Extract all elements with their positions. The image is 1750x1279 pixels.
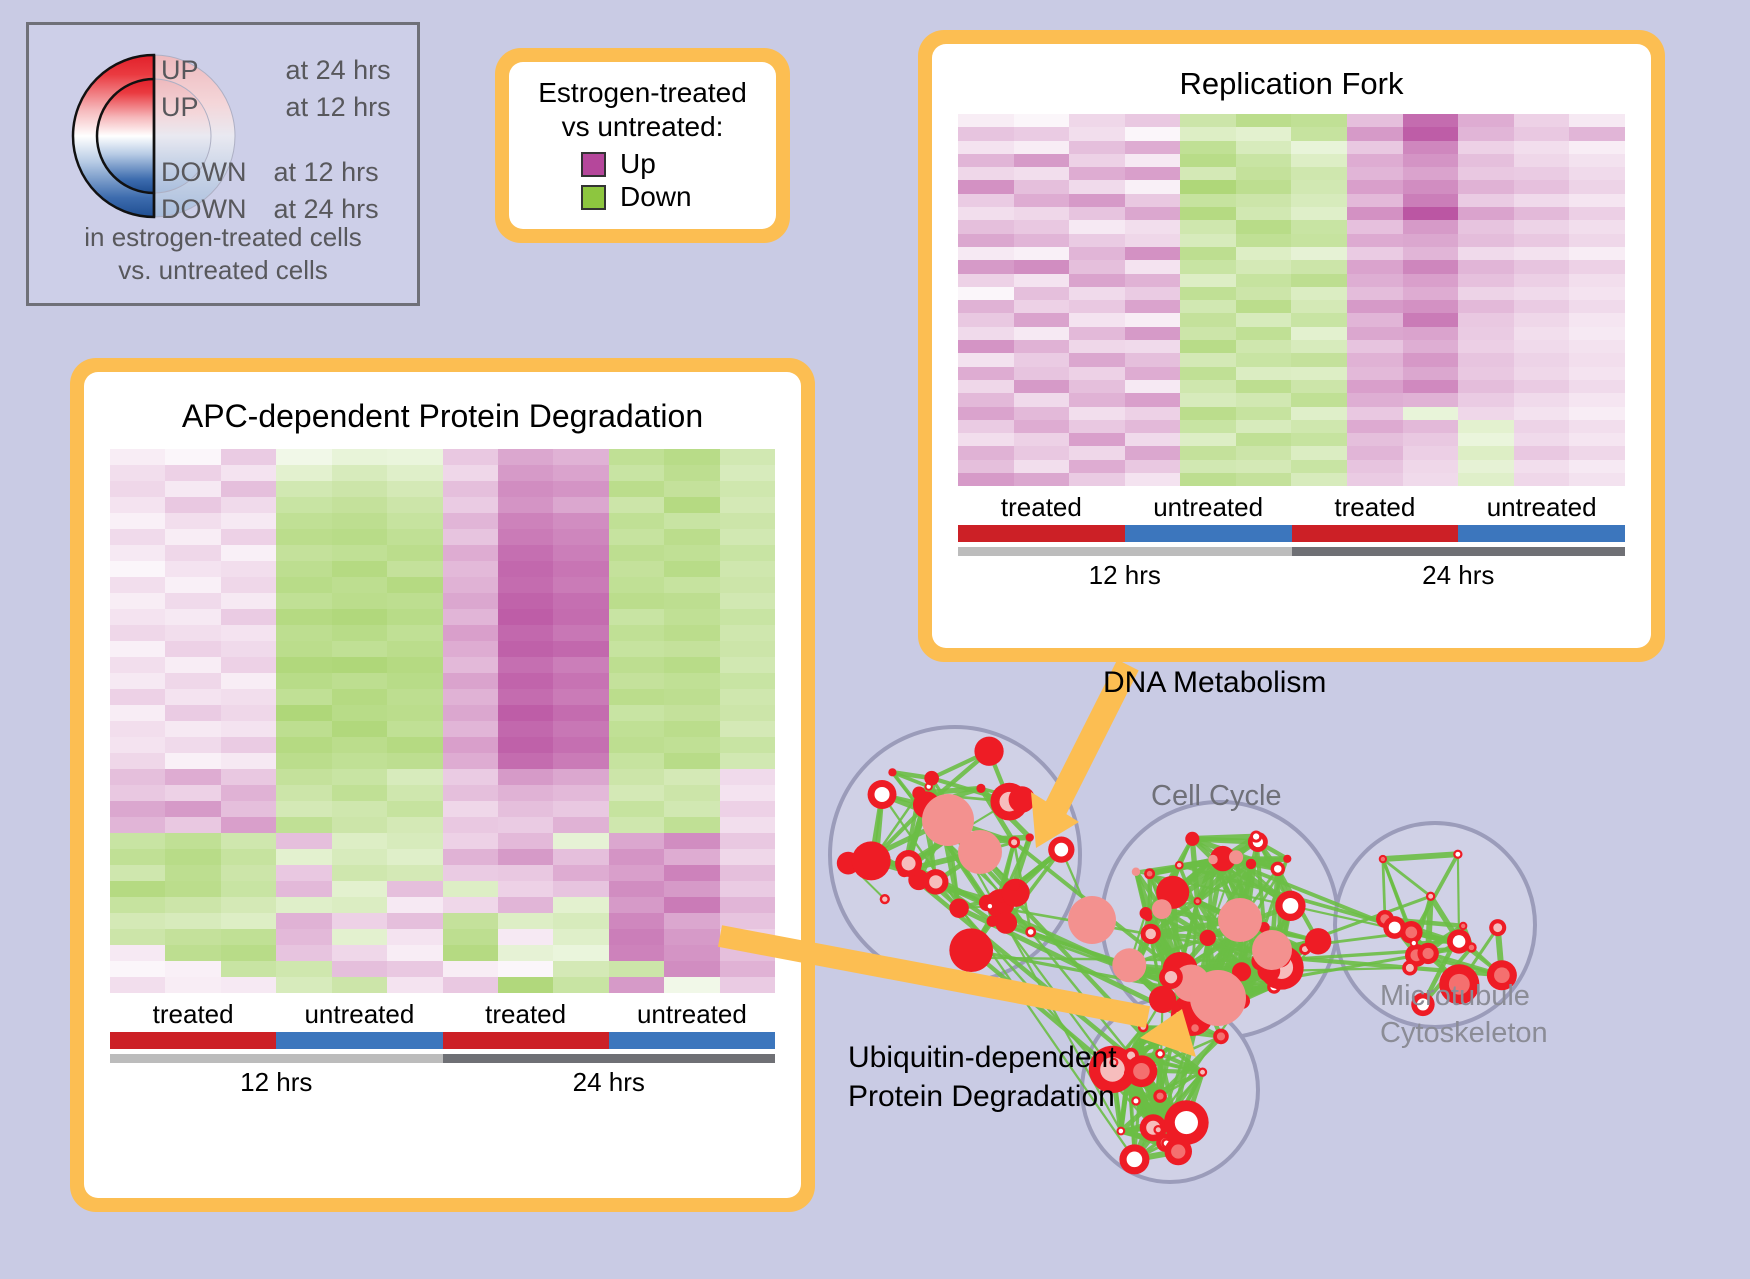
square-swatch-icon-up bbox=[581, 152, 606, 177]
heatmap-cell bbox=[332, 593, 387, 609]
heatmap-cell bbox=[609, 465, 664, 481]
heatmap-cell bbox=[1236, 407, 1292, 420]
heatmap-cell bbox=[165, 849, 220, 865]
heatmap-cell bbox=[609, 977, 664, 993]
heatmap-cell bbox=[1403, 300, 1459, 313]
heatmap-cell bbox=[664, 513, 719, 529]
heatmap-cell bbox=[664, 897, 719, 913]
network-node[interactable] bbox=[1410, 939, 1418, 947]
heatmap-cell bbox=[1069, 274, 1125, 287]
network-node[interactable] bbox=[1271, 862, 1285, 876]
heatmap-cell bbox=[1403, 154, 1459, 167]
heatmap-cell bbox=[110, 593, 165, 609]
heatmap-cell bbox=[1403, 114, 1459, 127]
node-core bbox=[1253, 833, 1259, 839]
network-node[interactable] bbox=[1188, 1021, 1203, 1036]
heatmap-cell bbox=[1347, 114, 1403, 127]
heatmap-cell bbox=[720, 913, 775, 929]
heatmap-cell bbox=[387, 625, 442, 641]
heatmap-cell bbox=[553, 913, 608, 929]
gene-network-diagram bbox=[820, 620, 1610, 1279]
node-core bbox=[1119, 1129, 1124, 1134]
network-node[interactable] bbox=[1008, 880, 1019, 891]
heatmap-cell bbox=[1458, 180, 1514, 193]
heatmap-cell bbox=[609, 513, 664, 529]
network-node[interactable] bbox=[1149, 986, 1176, 1013]
heatmap-cell bbox=[1569, 433, 1625, 446]
heatmap-cell bbox=[443, 881, 498, 897]
node-core bbox=[995, 912, 1017, 934]
network-node[interactable] bbox=[1379, 855, 1387, 863]
heatmap-cell bbox=[110, 497, 165, 513]
heatmap-cell bbox=[165, 689, 220, 705]
heatmap-cell bbox=[1347, 367, 1403, 380]
heatmap-cell bbox=[1069, 287, 1125, 300]
network-node[interactable] bbox=[1112, 948, 1146, 982]
heatmap-cell bbox=[1347, 274, 1403, 287]
heatmap-cell bbox=[1458, 433, 1514, 446]
network-node[interactable] bbox=[1068, 896, 1116, 944]
heatmap-cell bbox=[332, 673, 387, 689]
heatmap-cell bbox=[221, 897, 276, 913]
node-core bbox=[1453, 935, 1466, 948]
heatmap-cell bbox=[443, 721, 498, 737]
network-node[interactable] bbox=[1185, 832, 1199, 846]
heatmap-cell bbox=[553, 801, 608, 817]
network-node[interactable] bbox=[1190, 970, 1246, 1026]
heatmap-cell bbox=[1125, 460, 1181, 473]
axis-group-label-2: treated bbox=[1292, 492, 1459, 523]
axis-time-label-0: 12 hrs bbox=[958, 560, 1292, 591]
network-node[interactable] bbox=[1126, 1055, 1158, 1087]
node-core bbox=[1028, 929, 1034, 935]
heatmap-cell bbox=[1125, 234, 1181, 247]
heatmap-cell bbox=[110, 801, 165, 817]
heatmap-cell bbox=[958, 420, 1014, 433]
key-direction-0: UP bbox=[161, 55, 199, 86]
heatmap-cell bbox=[443, 673, 498, 689]
network-node[interactable] bbox=[1144, 868, 1155, 879]
heatmap-cell bbox=[1014, 340, 1070, 353]
network-node[interactable] bbox=[1194, 897, 1202, 905]
heatmap-cell bbox=[332, 753, 387, 769]
heatmap-cell bbox=[609, 497, 664, 513]
heatmap-cell bbox=[1180, 380, 1236, 393]
heatmap-cell bbox=[1514, 194, 1570, 207]
network-node[interactable] bbox=[1213, 1029, 1229, 1045]
heatmap-cell bbox=[221, 657, 276, 673]
network-node[interactable] bbox=[1252, 930, 1292, 970]
network-node[interactable] bbox=[1119, 1144, 1149, 1174]
heatmap-cell bbox=[1347, 380, 1403, 393]
heatmap-cell bbox=[720, 977, 775, 993]
heatmap-cell bbox=[443, 625, 498, 641]
heatmap-cell bbox=[958, 274, 1014, 287]
heatmap-cell bbox=[720, 865, 775, 881]
heatmap-cell bbox=[1236, 114, 1292, 127]
network-node[interactable] bbox=[949, 899, 968, 918]
heatmap-cell bbox=[553, 753, 608, 769]
heatmap-cell bbox=[1458, 300, 1514, 313]
heatmap-cell bbox=[958, 313, 1014, 326]
node-core bbox=[987, 916, 998, 927]
network-node[interactable] bbox=[1175, 861, 1184, 870]
heatmap-cell bbox=[1291, 234, 1347, 247]
heatmap-cell bbox=[609, 897, 664, 913]
node-core bbox=[1208, 855, 1217, 864]
treatment-bar-seg-2 bbox=[443, 1032, 609, 1049]
heatmap-cell bbox=[1569, 260, 1625, 273]
legend-title-line2: vs untreated: bbox=[509, 110, 776, 144]
network-node[interactable] bbox=[1153, 1125, 1163, 1135]
heatmap-cell bbox=[1347, 460, 1403, 473]
network-node[interactable] bbox=[852, 841, 891, 880]
heatmap-cell bbox=[1403, 234, 1459, 247]
network-node[interactable] bbox=[1466, 942, 1476, 952]
node-core bbox=[1191, 1024, 1199, 1032]
network-node[interactable] bbox=[880, 894, 890, 904]
network-node[interactable] bbox=[924, 771, 939, 786]
heatmap-cell bbox=[1125, 114, 1181, 127]
network-node[interactable] bbox=[1009, 786, 1036, 813]
treatment-color-bar bbox=[958, 525, 1625, 542]
heatmap-cell bbox=[1125, 141, 1181, 154]
heatmap-cell bbox=[1069, 460, 1125, 473]
heatmap-cell bbox=[221, 561, 276, 577]
heatmap-cell bbox=[110, 513, 165, 529]
network-node[interactable] bbox=[1026, 833, 1034, 841]
network-node[interactable] bbox=[1025, 926, 1036, 937]
heatmap-cell bbox=[1014, 420, 1070, 433]
heatmap-cell bbox=[443, 609, 498, 625]
heatmap-cell bbox=[958, 167, 1014, 180]
heatmap-cell bbox=[1291, 141, 1347, 154]
heatmap-cell bbox=[387, 673, 442, 689]
heatmap-cell bbox=[1069, 433, 1125, 446]
heatmap-cell bbox=[110, 481, 165, 497]
node-core bbox=[1195, 899, 1199, 903]
heatmap-cell bbox=[1236, 446, 1292, 459]
heatmap-cell bbox=[498, 785, 553, 801]
heatmap-cell bbox=[1180, 234, 1236, 247]
node-core bbox=[1132, 868, 1140, 876]
heatmap-cell bbox=[1403, 446, 1459, 459]
heatmap-cell bbox=[1014, 287, 1070, 300]
network-node[interactable] bbox=[1246, 859, 1256, 869]
heatmap-cell bbox=[958, 180, 1014, 193]
network-node[interactable] bbox=[1140, 1114, 1167, 1141]
heatmap-apc-degradation bbox=[110, 449, 775, 993]
axis-time-label-1: 24 hrs bbox=[1292, 560, 1626, 591]
heatmap-cell bbox=[1569, 473, 1625, 486]
heatmap-cell bbox=[1458, 207, 1514, 220]
axis-group-label-2: treated bbox=[443, 999, 609, 1030]
heatmap-cell bbox=[1125, 287, 1181, 300]
heatmap-cell bbox=[1236, 367, 1292, 380]
network-node[interactable] bbox=[1383, 916, 1406, 939]
heatmap-cell bbox=[664, 801, 719, 817]
heatmap-cell bbox=[443, 753, 498, 769]
network-node[interactable] bbox=[1453, 850, 1462, 859]
heatmap-cell bbox=[1291, 127, 1347, 140]
heatmap-cell bbox=[553, 465, 608, 481]
key-direction-2: DOWN bbox=[161, 157, 246, 188]
heatmap-cell bbox=[387, 785, 442, 801]
heatmap-cell bbox=[332, 529, 387, 545]
heatmap-cell bbox=[332, 897, 387, 913]
heatmap-cell bbox=[664, 849, 719, 865]
heatmap-cell bbox=[1180, 460, 1236, 473]
heatmap-cell bbox=[1069, 313, 1125, 326]
network-node[interactable] bbox=[1489, 919, 1506, 936]
network-node[interactable] bbox=[1048, 836, 1074, 862]
network-node[interactable] bbox=[1164, 1100, 1209, 1145]
heatmap-cell bbox=[498, 625, 553, 641]
heatmap-cell bbox=[720, 721, 775, 737]
cluster-label-ubiquitin-degradation: Ubiquitin-dependent Protein Degradation bbox=[848, 1038, 1117, 1116]
network-node[interactable] bbox=[949, 928, 993, 972]
heatmap-cell bbox=[276, 721, 331, 737]
heatmap-cell bbox=[664, 769, 719, 785]
network-node[interactable] bbox=[1008, 836, 1020, 848]
axis-time-label-0: 12 hrs bbox=[110, 1067, 443, 1098]
heatmap-cell bbox=[1125, 367, 1181, 380]
heatmap-cell bbox=[958, 433, 1014, 446]
heatmap-cell bbox=[1458, 127, 1514, 140]
network-node[interactable] bbox=[888, 768, 896, 776]
key-direction-1: UP bbox=[161, 92, 199, 123]
network-node[interactable] bbox=[986, 902, 994, 910]
heatmap-cell bbox=[1458, 234, 1514, 247]
network-node[interactable] bbox=[1116, 1127, 1125, 1136]
node-core bbox=[1127, 1152, 1143, 1168]
heatmap-cell bbox=[958, 287, 1014, 300]
node-core bbox=[1147, 871, 1153, 877]
heatmap-cell bbox=[332, 577, 387, 593]
network-node[interactable] bbox=[1141, 924, 1161, 944]
node-core bbox=[1428, 894, 1433, 899]
heatmap-cell bbox=[498, 977, 553, 993]
network-node[interactable] bbox=[895, 850, 922, 877]
network-node[interactable] bbox=[1402, 960, 1417, 975]
heatmap-cell bbox=[221, 609, 276, 625]
heatmap-cell bbox=[1403, 287, 1459, 300]
heatmap-cell bbox=[1403, 460, 1459, 473]
heatmap-cell bbox=[387, 737, 442, 753]
heatmap-cell bbox=[110, 689, 165, 705]
heatmap-cell bbox=[1291, 433, 1347, 446]
network-node[interactable] bbox=[912, 787, 926, 801]
heatmap-cell bbox=[664, 593, 719, 609]
network-node[interactable] bbox=[974, 737, 1003, 766]
heatmap-cell bbox=[958, 340, 1014, 353]
heatmap-cell bbox=[1125, 194, 1181, 207]
heatmap-cell bbox=[1014, 154, 1070, 167]
heatmap-cell bbox=[720, 833, 775, 849]
heatmap-cell bbox=[498, 513, 553, 529]
network-node[interactable] bbox=[1250, 831, 1262, 843]
network-node[interactable] bbox=[1283, 855, 1291, 863]
legend-title-line1: Estrogen-treated bbox=[509, 76, 776, 110]
heatmap-cell bbox=[1514, 420, 1570, 433]
heatmap-cell bbox=[221, 865, 276, 881]
heatmap-cell bbox=[1069, 327, 1125, 340]
heatmap-cell bbox=[958, 141, 1014, 154]
heatmap-cell bbox=[1569, 180, 1625, 193]
timepoint-bar-seg-0 bbox=[110, 1054, 443, 1063]
node-core bbox=[1412, 941, 1416, 945]
heatmap-cell bbox=[1514, 207, 1570, 220]
heatmap-cell bbox=[1236, 433, 1292, 446]
heatmap-cell bbox=[387, 833, 442, 849]
network-node[interactable] bbox=[958, 830, 1002, 874]
heatmap-cell bbox=[1014, 114, 1070, 127]
heatmap-cell bbox=[720, 577, 775, 593]
node-core bbox=[852, 841, 891, 880]
heatmap-cell bbox=[165, 977, 220, 993]
heatmap-cell bbox=[221, 529, 276, 545]
key-footer-line1: in estrogen-treated cells bbox=[29, 221, 417, 254]
network-node[interactable] bbox=[1131, 1096, 1140, 1105]
heatmap-cell bbox=[1569, 300, 1625, 313]
network-node[interactable] bbox=[1144, 913, 1152, 921]
heatmap-cell bbox=[1347, 287, 1403, 300]
node-core bbox=[912, 787, 926, 801]
network-node[interactable] bbox=[1275, 891, 1305, 921]
heatmap-cell bbox=[332, 961, 387, 977]
heatmap-cell bbox=[1180, 420, 1236, 433]
network-node[interactable] bbox=[1198, 1068, 1207, 1077]
heatmap-cell bbox=[1569, 141, 1625, 154]
heatmap-cell bbox=[1125, 353, 1181, 366]
heatmap-cell bbox=[958, 234, 1014, 247]
network-node[interactable] bbox=[1153, 1089, 1167, 1103]
heatmap-cell bbox=[609, 769, 664, 785]
network-node[interactable] bbox=[1159, 965, 1183, 989]
heatmap-cell bbox=[1291, 247, 1347, 260]
heatmap-cell bbox=[498, 497, 553, 513]
heatmap-cell bbox=[1069, 114, 1125, 127]
heatmap-cell bbox=[1569, 446, 1625, 459]
heatmap-cell bbox=[958, 380, 1014, 393]
heatmap-cell bbox=[276, 657, 331, 673]
heatmap-cell bbox=[664, 865, 719, 881]
node-core bbox=[1112, 948, 1146, 982]
network-node[interactable] bbox=[976, 784, 985, 793]
network-node[interactable] bbox=[923, 869, 948, 894]
network-node[interactable] bbox=[1218, 898, 1262, 942]
heatmap-cell bbox=[110, 865, 165, 881]
heatmap-cell bbox=[165, 785, 220, 801]
heatmap-cell bbox=[1014, 167, 1070, 180]
heatmap-cell bbox=[1125, 167, 1181, 180]
heatmap-cell bbox=[1347, 407, 1403, 420]
node-core bbox=[924, 771, 939, 786]
heatmap-cell bbox=[221, 913, 276, 929]
node-core bbox=[1133, 1063, 1150, 1080]
heatmap-cell bbox=[609, 929, 664, 945]
heatmap-cell bbox=[609, 945, 664, 961]
heatmap-cell bbox=[165, 657, 220, 673]
heatmap-cell bbox=[332, 465, 387, 481]
heatmap-cell bbox=[387, 513, 442, 529]
heatmap-cell bbox=[1569, 287, 1625, 300]
treatment-bar-seg-3 bbox=[609, 1032, 775, 1049]
node-core bbox=[1218, 898, 1262, 942]
node-core bbox=[1246, 859, 1256, 869]
heatmap-cell bbox=[1514, 114, 1570, 127]
node-core bbox=[1008, 880, 1019, 891]
network-node[interactable] bbox=[1173, 1009, 1183, 1019]
heatmap-cell bbox=[1014, 234, 1070, 247]
heatmap-cell bbox=[664, 529, 719, 545]
heatmap-cell bbox=[1291, 167, 1347, 180]
heatmap-axis-apc: treated untreated treated untreated 12 h… bbox=[110, 999, 775, 1098]
heatmap-cell bbox=[276, 961, 331, 977]
heatmap-cell bbox=[1514, 247, 1570, 260]
network-node[interactable] bbox=[1229, 850, 1243, 864]
heatmap-cell bbox=[1291, 446, 1347, 459]
heatmap-cell bbox=[1180, 220, 1236, 233]
network-node[interactable] bbox=[1132, 868, 1140, 876]
heatmap-cell bbox=[498, 769, 553, 785]
heatmap-cell bbox=[553, 593, 608, 609]
heatmap-cell bbox=[498, 945, 553, 961]
heatmap-cell bbox=[1347, 340, 1403, 353]
heatmap-cell bbox=[1125, 207, 1181, 220]
network-node[interactable] bbox=[1459, 922, 1467, 930]
heatmap-cell bbox=[498, 817, 553, 833]
heatmap-cell bbox=[664, 929, 719, 945]
heatmap-cell bbox=[664, 721, 719, 737]
heatmap-cell bbox=[609, 785, 664, 801]
network-node[interactable] bbox=[1305, 928, 1331, 954]
heatmap-cell bbox=[720, 449, 775, 465]
heatmap-cell bbox=[165, 929, 220, 945]
network-node[interactable] bbox=[987, 916, 998, 927]
heatmap-cell bbox=[165, 529, 220, 545]
heatmap-cell bbox=[1403, 393, 1459, 406]
network-node[interactable] bbox=[1152, 899, 1172, 919]
network-node[interactable] bbox=[995, 912, 1017, 934]
node-core bbox=[1455, 852, 1460, 857]
network-node[interactable] bbox=[868, 780, 897, 809]
heatmap-cell bbox=[1069, 220, 1125, 233]
heatmap-cell bbox=[221, 513, 276, 529]
square-swatch-icon-down bbox=[581, 185, 606, 210]
heatmap-cell bbox=[1347, 141, 1403, 154]
network-node[interactable] bbox=[1200, 930, 1216, 946]
heatmap-cell bbox=[720, 465, 775, 481]
heatmap-cell bbox=[276, 833, 331, 849]
cluster-label-microtubule-cytoskeleton: Microtubule Cytoskeleton bbox=[1380, 978, 1548, 1052]
heatmap-cell bbox=[1069, 247, 1125, 260]
heatmap-cell bbox=[720, 705, 775, 721]
heatmap-cell bbox=[165, 913, 220, 929]
network-node[interactable] bbox=[1426, 892, 1435, 901]
heatmap-cell bbox=[1291, 380, 1347, 393]
network-node[interactable] bbox=[1417, 943, 1438, 964]
network-node[interactable] bbox=[1208, 855, 1217, 864]
heatmap-cell bbox=[332, 625, 387, 641]
heatmap-cell bbox=[1014, 353, 1070, 366]
node-core bbox=[1274, 865, 1282, 873]
heatmap-cell bbox=[110, 449, 165, 465]
network-node[interactable] bbox=[1155, 1049, 1165, 1059]
network-node[interactable] bbox=[1138, 1022, 1149, 1033]
heatmap-cell bbox=[165, 897, 220, 913]
heatmap-cell bbox=[443, 529, 498, 545]
